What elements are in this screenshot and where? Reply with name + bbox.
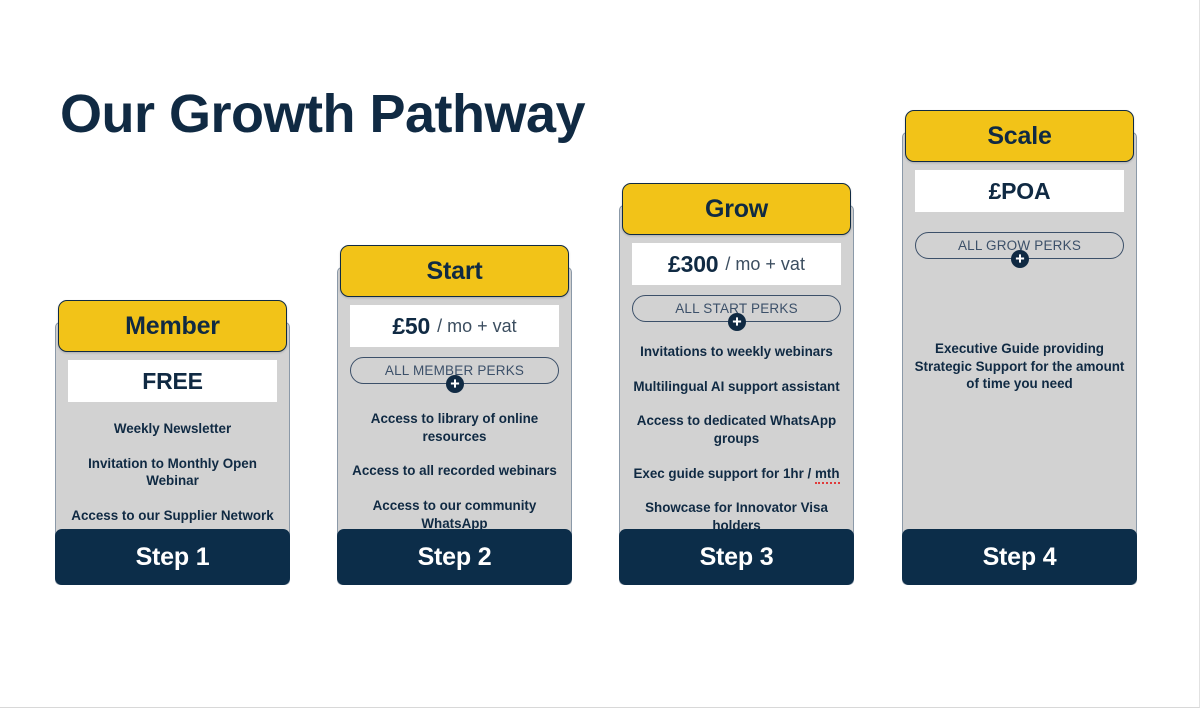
- perks-pill-wrap-grow: ALL START PERKS: [632, 295, 841, 322]
- perks-pill-wrap-scale: ALL GROW PERKS: [915, 232, 1124, 259]
- feature-list-member: Weekly Newsletter Invitation to Monthly …: [65, 420, 280, 525]
- price-period: / mo + vat: [437, 316, 517, 337]
- page-title: Our Growth Pathway: [60, 84, 585, 144]
- pricing-card-grow[interactable]: Grow £300 / mo + vat ALL START PERKS Inv…: [619, 183, 854, 585]
- step-label: Step 4: [983, 543, 1057, 572]
- tier-name: Start: [427, 257, 483, 286]
- price-box-member: FREE: [68, 360, 277, 402]
- price-amount: £50: [392, 313, 430, 340]
- price-box-scale: £POA: [915, 170, 1124, 212]
- price-amount: FREE: [142, 368, 203, 395]
- price-period: / mo + vat: [725, 254, 805, 275]
- plus-circle-icon: [1011, 250, 1029, 268]
- price-amount: £POA: [989, 178, 1051, 205]
- pricing-card-member[interactable]: Member FREE Weekly Newsletter Invitation…: [55, 300, 290, 585]
- step-label: Step 1: [136, 543, 210, 572]
- list-item: Access to our community WhatsApp: [347, 497, 562, 532]
- spell-error-word: mth: [815, 466, 840, 484]
- list-item: Access to dedicated WhatsApp groups: [629, 412, 844, 447]
- feature-list-start: Access to library of online resources Ac…: [347, 410, 562, 532]
- infographic-canvas: Our Growth Pathway Member FREE Weekly Ne…: [0, 0, 1200, 708]
- card-footer-step[interactable]: Step 3: [619, 529, 854, 585]
- pricing-card-scale[interactable]: Scale £POA ALL GROW PERKS Executive Guid…: [902, 110, 1137, 585]
- list-item: Invitations to weekly webinars: [629, 343, 844, 361]
- plus-circle-icon: [728, 313, 746, 331]
- list-item: Invitation to Monthly Open Webinar: [65, 455, 280, 490]
- plus-circle-icon: [446, 375, 464, 393]
- card-header-start[interactable]: Start: [340, 245, 569, 297]
- perks-pill-wrap-start: ALL MEMBER PERKS: [350, 357, 559, 384]
- list-item: Access to library of online resources: [347, 410, 562, 445]
- tier-name: Grow: [705, 195, 768, 224]
- card-header-grow[interactable]: Grow: [622, 183, 851, 235]
- feature-list-grow: Invitations to weekly webinars Multiling…: [629, 343, 844, 535]
- list-item: Exec guide support for 1hr / mth: [629, 465, 844, 483]
- list-item: Access to all recorded webinars: [347, 462, 562, 480]
- card-header-scale[interactable]: Scale: [905, 110, 1134, 162]
- price-box-grow: £300 / mo + vat: [632, 243, 841, 285]
- step-label: Step 2: [418, 543, 492, 572]
- feature-list-scale: Executive Guide providing Strategic Supp…: [912, 340, 1127, 393]
- price-amount: £300: [668, 251, 718, 278]
- pricing-card-start[interactable]: Start £50 / mo + vat ALL MEMBER PERKS Ac…: [337, 245, 572, 585]
- card-footer-step[interactable]: Step 2: [337, 529, 572, 585]
- list-item: Multilingual AI support assistant: [629, 378, 844, 396]
- feature-text-prefix: Exec guide support for 1hr /: [633, 466, 811, 481]
- list-item: Executive Guide providing Strategic Supp…: [912, 340, 1127, 393]
- step-label: Step 3: [700, 543, 774, 572]
- list-item: Weekly Newsletter: [65, 420, 280, 438]
- card-footer-step[interactable]: Step 1: [55, 529, 290, 585]
- card-header-member[interactable]: Member: [58, 300, 287, 352]
- tier-name: Scale: [987, 122, 1051, 151]
- list-item: Access to our Supplier Network: [65, 507, 280, 525]
- card-footer-step[interactable]: Step 4: [902, 529, 1137, 585]
- tier-name: Member: [125, 312, 220, 341]
- price-box-start: £50 / mo + vat: [350, 305, 559, 347]
